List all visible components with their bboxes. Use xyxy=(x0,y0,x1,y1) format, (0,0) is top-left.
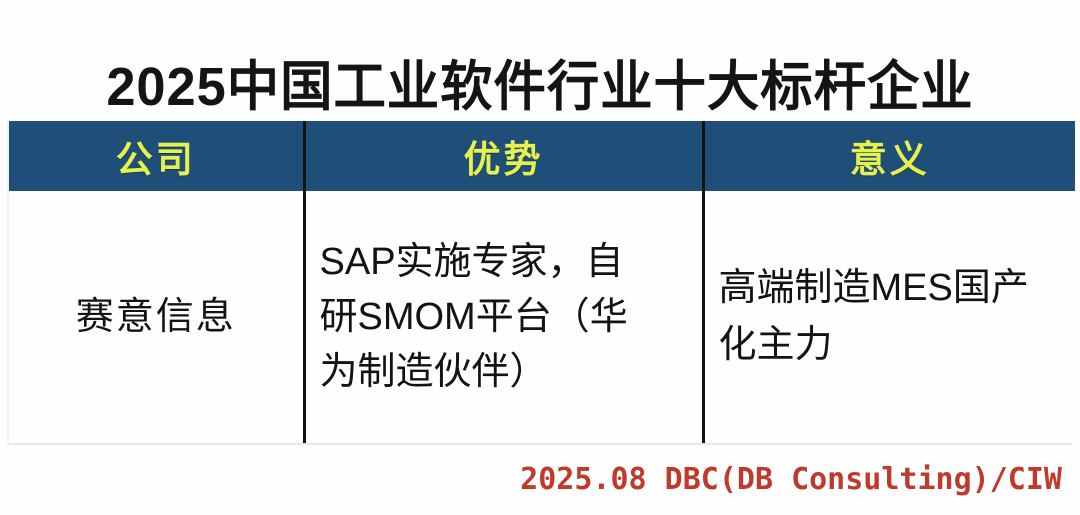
cell-advantage-line-1: SAP实施专家，自 xyxy=(320,235,692,290)
footer-credit: 2025.08 DBC(DB Consulting)/CIW xyxy=(520,462,1062,498)
cell-company: 赛意信息 xyxy=(9,191,304,443)
benchmark-table-container: 公司 优势 意义 赛意信息 SAP实施专家，自 研SMOM平台（华 为制造伙伴）… xyxy=(7,121,1073,445)
table-body: 赛意信息 SAP实施专家，自 研SMOM平台（华 为制造伙伴） 高端制造MES国… xyxy=(9,191,1075,443)
cell-meaning: 高端制造MES国产 化主力 xyxy=(703,191,1075,443)
page-root: 2025中国工业软件行业十大标杆企业 公司 优势 意义 赛意信息 SAP实施专 xyxy=(0,0,1080,515)
column-header-advantage: 优势 xyxy=(304,121,703,191)
cell-advantage-line-3: 为制造伙伴） xyxy=(320,345,692,400)
benchmark-table: 公司 优势 意义 赛意信息 SAP实施专家，自 研SMOM平台（华 为制造伙伴）… xyxy=(9,121,1075,443)
cell-meaning-line-2: 化主力 xyxy=(719,317,1068,374)
table-header-row: 公司 优势 意义 xyxy=(9,121,1075,191)
page-title: 2025中国工业软件行业十大标杆企业 xyxy=(16,54,1064,120)
cell-meaning-line-1: 高端制造MES国产 xyxy=(719,260,1068,317)
column-header-meaning: 意义 xyxy=(703,121,1075,191)
cell-advantage: SAP实施专家，自 研SMOM平台（华 为制造伙伴） xyxy=(304,191,703,443)
table-header: 公司 优势 意义 xyxy=(9,121,1075,191)
table-row: 赛意信息 SAP实施专家，自 研SMOM平台（华 为制造伙伴） 高端制造MES国… xyxy=(9,191,1075,443)
cell-advantage-line-2: 研SMOM平台（华 xyxy=(320,290,692,345)
column-header-company: 公司 xyxy=(9,121,304,191)
